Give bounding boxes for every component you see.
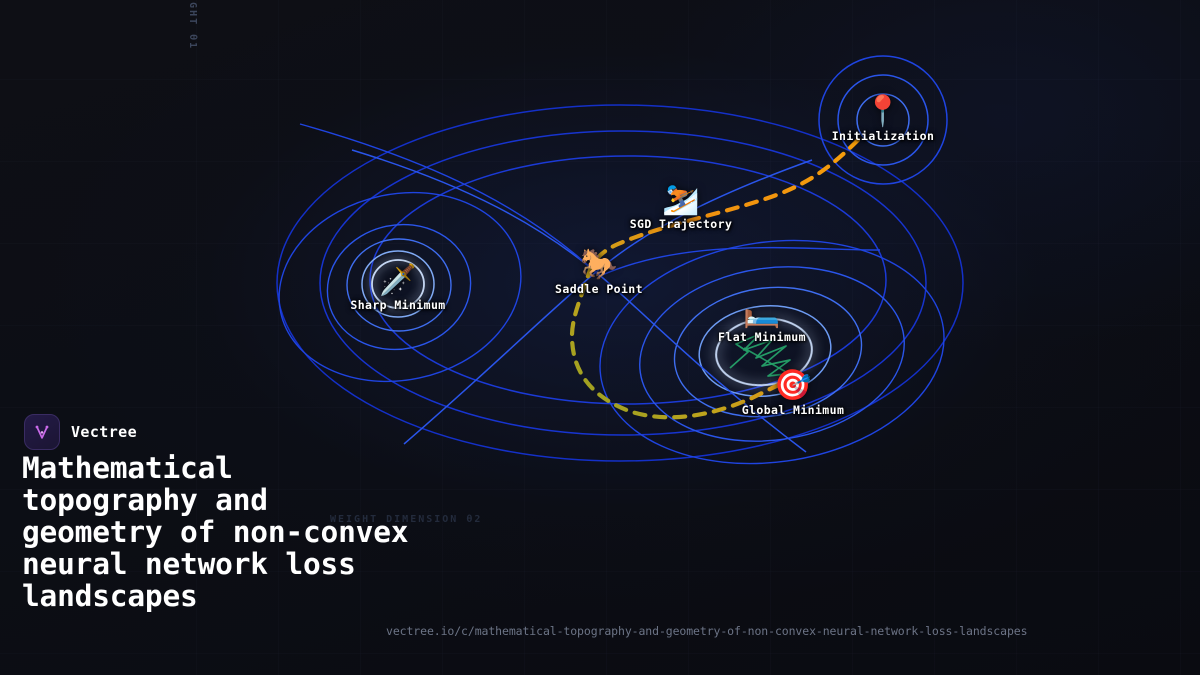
global-minimum-icon: 🎯	[742, 371, 845, 401]
map-marker-sharp-minimum[interactable]: 🗡️Sharp Minimum	[350, 266, 445, 312]
page-title: Mathematical topography and geometry of …	[22, 452, 422, 612]
saddle-point-icon: 🐎	[555, 250, 643, 280]
map-marker-initialization[interactable]: 📍Initialization	[832, 97, 935, 143]
poster-canvas: WEIGHT θ1 WEIGHT DIMENSION θ2 📍Initializ…	[0, 0, 1200, 675]
brand-block: Vectree	[24, 414, 137, 450]
sharp-minimum-icon: 🗡️	[350, 266, 445, 296]
map-marker-sgd-trajectory[interactable]: ⛷️SGD Trajectory	[630, 185, 733, 231]
flat-minimum-icon: 🛏️	[718, 298, 806, 328]
sgd-trajectory-icon: ⛷️	[630, 185, 733, 215]
axis-label-y: WEIGHT θ1	[187, 0, 198, 50]
map-marker-saddle-point[interactable]: 🐎Saddle Point	[555, 250, 643, 296]
flat-minimum-label: Flat Minimum	[718, 330, 806, 344]
sgd-trajectory-label: SGD Trajectory	[630, 217, 733, 231]
map-marker-global-minimum[interactable]: 🎯Global Minimum	[742, 371, 845, 417]
saddle-point-label: Saddle Point	[555, 282, 643, 296]
vectree-logo-icon	[24, 414, 60, 450]
page-url: vectree.io/c/mathematical-topography-and…	[386, 624, 1027, 638]
initialization-label: Initialization	[832, 129, 935, 143]
initialization-icon: 📍	[832, 97, 935, 127]
global-minimum-label: Global Minimum	[742, 403, 845, 417]
sharp-minimum-label: Sharp Minimum	[350, 298, 445, 312]
map-marker-flat-minimum[interactable]: 🛏️Flat Minimum	[718, 298, 806, 344]
brand-name: Vectree	[71, 423, 137, 441]
vectree-glyph-icon	[32, 422, 52, 442]
